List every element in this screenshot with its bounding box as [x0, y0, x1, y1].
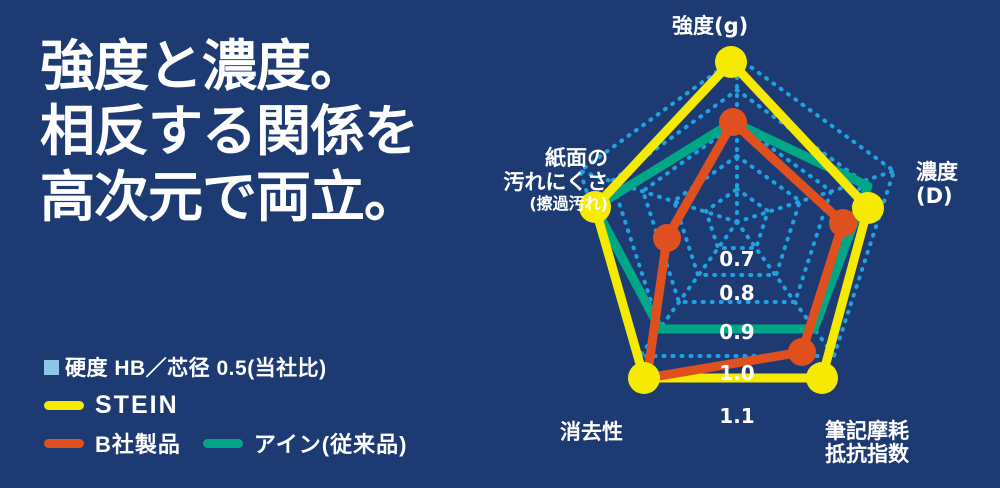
legend-label-stein: STEIN: [95, 391, 179, 420]
headline-line-2: 相反する関係を: [40, 99, 460, 164]
legend-swatch-stein: [44, 401, 84, 410]
axis-label-erasability-text: 消去性: [560, 420, 623, 444]
data-point: [653, 224, 681, 252]
legend-item-stein: STEIN: [44, 391, 474, 420]
grid-ring-0-7: [706, 189, 768, 248]
axis-label-strength-text: 強度(g): [672, 14, 748, 38]
axis-label-strength: 強度(g): [672, 14, 748, 38]
legend-label-ain: アイン(従来品): [254, 427, 408, 459]
ring-label-1-0: 1.0: [711, 361, 763, 385]
headline-line-3: 高次元で両立。: [40, 165, 460, 230]
ring-label-0-9: 0.9: [711, 320, 763, 344]
square-marker-icon: [44, 360, 59, 375]
data-point: [829, 209, 857, 237]
axis-label-smudge-line1: 紙面の: [545, 146, 608, 170]
axis-label-erasability: 消去性: [560, 420, 623, 444]
radar-chart: 強度(g) 濃度 (D) 紙面の 汚れにくさ (擦過汚れ) 消去性 筆記摩耗 抵…: [450, 0, 1000, 488]
data-point: [628, 362, 660, 394]
axis-label-wear-line2: 抵抗指数: [825, 443, 909, 466]
legend-swatch-b-company: [44, 439, 84, 448]
legend-label-b-company: B社製品: [95, 427, 181, 459]
poster-root: 強度と濃度。 相反する関係を 高次元で両立。 硬度 HB／芯径 0.5(当社比)…: [0, 0, 1000, 488]
legend-note: 硬度 HB／芯径 0.5(当社比): [44, 352, 474, 382]
axis-label-smudge-line2: 汚れにくさ: [468, 170, 608, 194]
axis-label-density-sub: (D): [916, 184, 958, 208]
axis-label-wear-line1: 筆記摩耗: [825, 419, 909, 443]
legend-note-label: 硬度 HB／芯径 0.5(当社比): [65, 352, 327, 382]
axis-label-wear-resistance: 筆記摩耗 抵抗指数: [825, 420, 909, 466]
axis-label-density-text: 濃度: [916, 160, 958, 184]
axis-label-smudge-line3: (擦過汚れ): [468, 195, 608, 214]
ring-label-0-8: 0.8: [711, 281, 763, 305]
axis-label-smudge: 紙面の 汚れにくさ (擦過汚れ): [468, 146, 608, 213]
ring-label-1-1: 1.1: [711, 404, 763, 428]
headline: 強度と濃度。 相反する関係を 高次元で両立。: [40, 34, 460, 230]
legend: 硬度 HB／芯径 0.5(当社比) STEIN B社製品 アイン(従来品): [44, 352, 474, 466]
data-point: [806, 362, 838, 394]
data-point: [852, 192, 884, 224]
data-point: [788, 338, 816, 366]
legend-swatch-ain: [203, 439, 243, 448]
legend-row-competitors: B社製品 アイン(従来品): [44, 427, 474, 459]
data-point: [719, 108, 747, 136]
headline-line-1: 強度と濃度。: [40, 34, 460, 99]
ring-label-0-7: 0.7: [711, 247, 763, 271]
data-point: [715, 46, 747, 78]
axis-label-density: 濃度 (D): [916, 160, 958, 209]
